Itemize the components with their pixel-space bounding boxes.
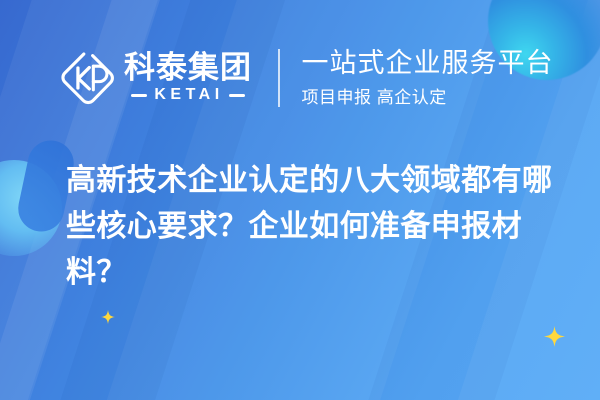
promo-banner: 科泰集团 KETAI 一站式企业服务平台 项目申报 高企认定 高新技术企业认定的… <box>0 0 600 400</box>
ketai-diamond-monogram-icon <box>58 49 116 107</box>
logo-company-cn: 科泰集团 <box>124 52 252 84</box>
sparkle-large-right-icon <box>544 326 565 347</box>
logo-dash-right-icon <box>229 94 245 97</box>
logo-company-en-row: KETAI <box>124 86 252 104</box>
banner-header: 科泰集团 KETAI 一站式企业服务平台 项目申报 高企认定 <box>58 42 554 114</box>
header-divider <box>278 49 280 107</box>
logo-dash-left-icon <box>131 94 147 97</box>
logo-company-en: KETAI <box>154 86 223 104</box>
page-title: 高新技术企业认定的八大领域都有哪些核心要求？企业如何准备申报材料？ <box>66 158 566 296</box>
sparkle-small-left-icon <box>101 310 115 324</box>
logo-wordmark: 科泰集团 KETAI <box>124 52 252 105</box>
tagline-main: 一站式企业服务平台 <box>302 48 554 78</box>
soft-circle-icon <box>0 160 62 256</box>
tagline-sub: 项目申报 高企认定 <box>302 83 554 108</box>
tagline-block: 一站式企业服务平台 项目申报 高企认定 <box>302 48 554 108</box>
